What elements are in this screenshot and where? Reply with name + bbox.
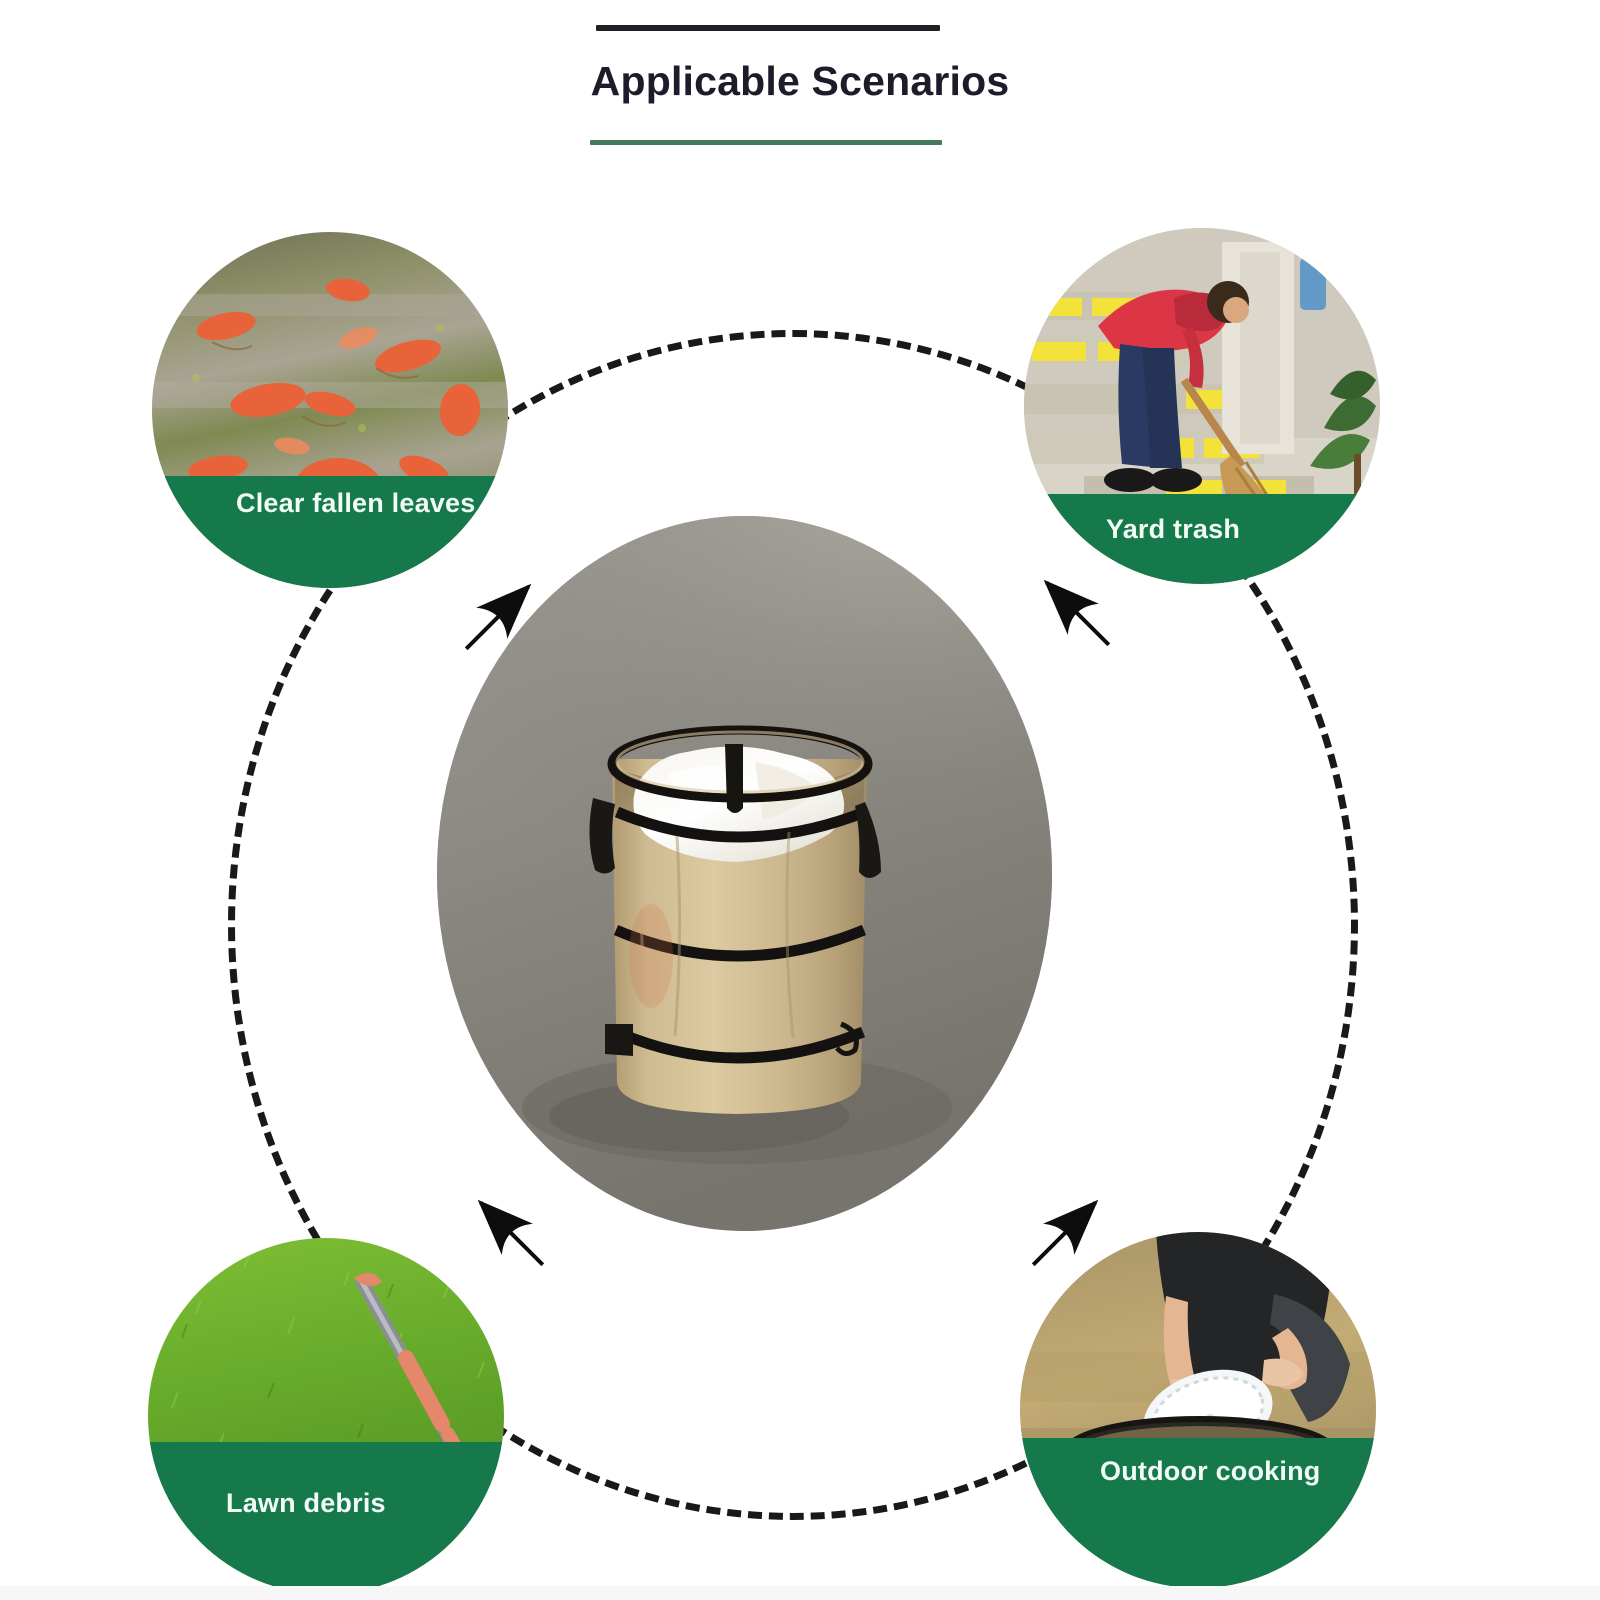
footer-strip bbox=[0, 1586, 1600, 1600]
scenario-label-lawn-debris: Lawn debris bbox=[148, 1442, 504, 1594]
scenario-lawn-debris[interactable]: Lawn debris bbox=[148, 1238, 504, 1594]
page-title: Applicable Scenarios bbox=[0, 58, 1600, 105]
scenario-clear-fallen-leaves[interactable]: Clear fallen leaves bbox=[152, 232, 508, 588]
header: Applicable Scenarios bbox=[0, 0, 1600, 170]
arrow-to-clear-fallen-leaves-icon bbox=[443, 552, 563, 672]
arrow-to-outdoor-cooking-icon bbox=[1010, 1168, 1130, 1288]
arrow-to-yard-trash-icon bbox=[1012, 548, 1132, 668]
title-rule-bottom bbox=[590, 140, 942, 145]
title-rule-top bbox=[596, 25, 940, 31]
infographic-page: Applicable Scenarios bbox=[0, 0, 1600, 1600]
scenario-yard-trash[interactable]: Yard trash bbox=[1024, 228, 1380, 584]
scenario-label-outdoor-cooking: Outdoor cooking bbox=[1020, 1438, 1376, 1588]
arrow-to-lawn-debris-icon bbox=[446, 1168, 566, 1288]
